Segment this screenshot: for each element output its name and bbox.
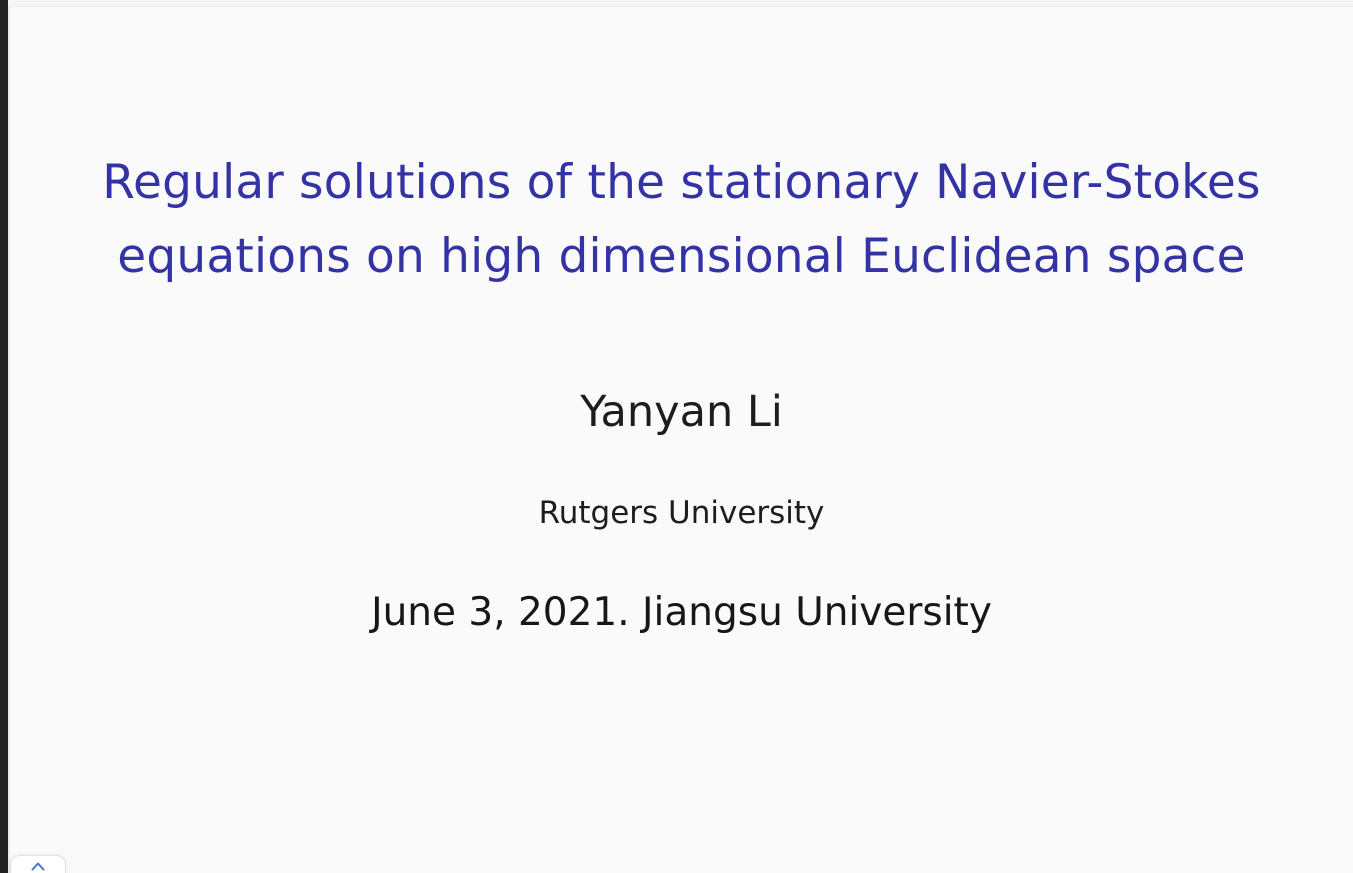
scroll-to-top-button[interactable]	[10, 855, 66, 873]
slide-author-name: Yanyan Li	[10, 386, 1353, 438]
pdf-slide-viewer: Regular solutions of the stationary Navi…	[0, 0, 1353, 873]
slide-date-and-venue: June 3, 2021. Jiangsu University	[10, 588, 1353, 638]
slide-affiliation: Rutgers University	[10, 492, 1353, 534]
slide-page: Regular solutions of the stationary Navi…	[10, 8, 1353, 873]
window-top-chrome-strip	[0, 0, 1353, 7]
slide-title: Regular solutions of the stationary Navi…	[10, 146, 1353, 294]
chevron-up-icon	[31, 861, 45, 871]
window-left-edge-bar	[0, 0, 8, 873]
